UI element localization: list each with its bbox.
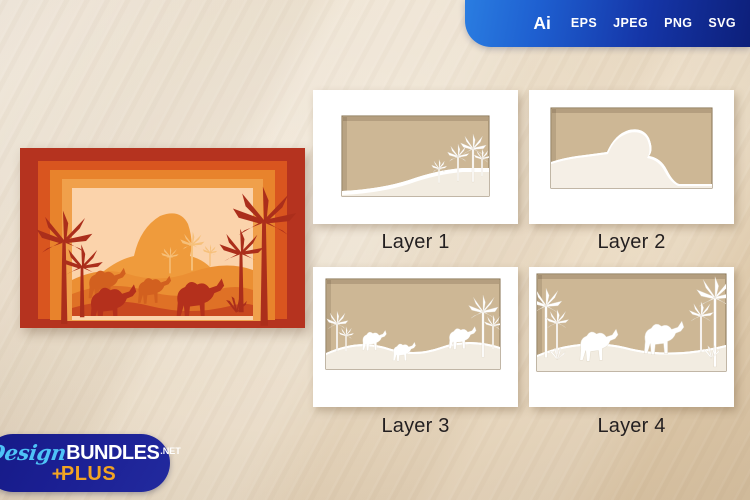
layer-3-artwork bbox=[313, 267, 518, 407]
layer-2-artwork bbox=[529, 90, 734, 224]
layer-card-4[interactable] bbox=[529, 267, 734, 407]
logo-word-bundles: BUNDLES bbox=[66, 443, 159, 463]
hero-artwork-svg bbox=[20, 148, 305, 328]
logo-row-primary: Design BUNDLES .NET bbox=[0, 442, 181, 463]
logo-word-net: .NET bbox=[160, 447, 181, 456]
format-label-jpeg: JPEG bbox=[613, 17, 648, 30]
layer-1-artwork bbox=[313, 90, 518, 224]
layer-4-caption: Layer 4 bbox=[529, 415, 734, 438]
format-label-svg: SVG bbox=[708, 17, 736, 30]
layer-2-caption: Layer 2 bbox=[529, 231, 734, 254]
layer-card-2[interactable] bbox=[529, 90, 734, 224]
layer-3-caption: Layer 3 bbox=[313, 415, 518, 438]
logo-row-plus: + PLUS bbox=[52, 464, 116, 484]
format-label-eps: EPS bbox=[571, 17, 597, 30]
logo-word-plus: PLUS bbox=[61, 464, 116, 484]
layer-1-caption: Layer 1 bbox=[313, 231, 518, 254]
logo-word-design: Design bbox=[0, 442, 68, 463]
layered-papercut-preview bbox=[20, 148, 305, 328]
format-label-ai: Ai bbox=[533, 15, 551, 33]
format-label-png: PNG bbox=[664, 17, 692, 30]
file-format-badge: Ai EPS JPEG PNG SVG bbox=[465, 0, 750, 47]
designbundles-plus-logo[interactable]: Design BUNDLES .NET + PLUS bbox=[0, 434, 170, 492]
layer-4-artwork bbox=[529, 267, 734, 407]
layer-card-3[interactable] bbox=[313, 267, 518, 407]
layer-card-1[interactable] bbox=[313, 90, 518, 224]
